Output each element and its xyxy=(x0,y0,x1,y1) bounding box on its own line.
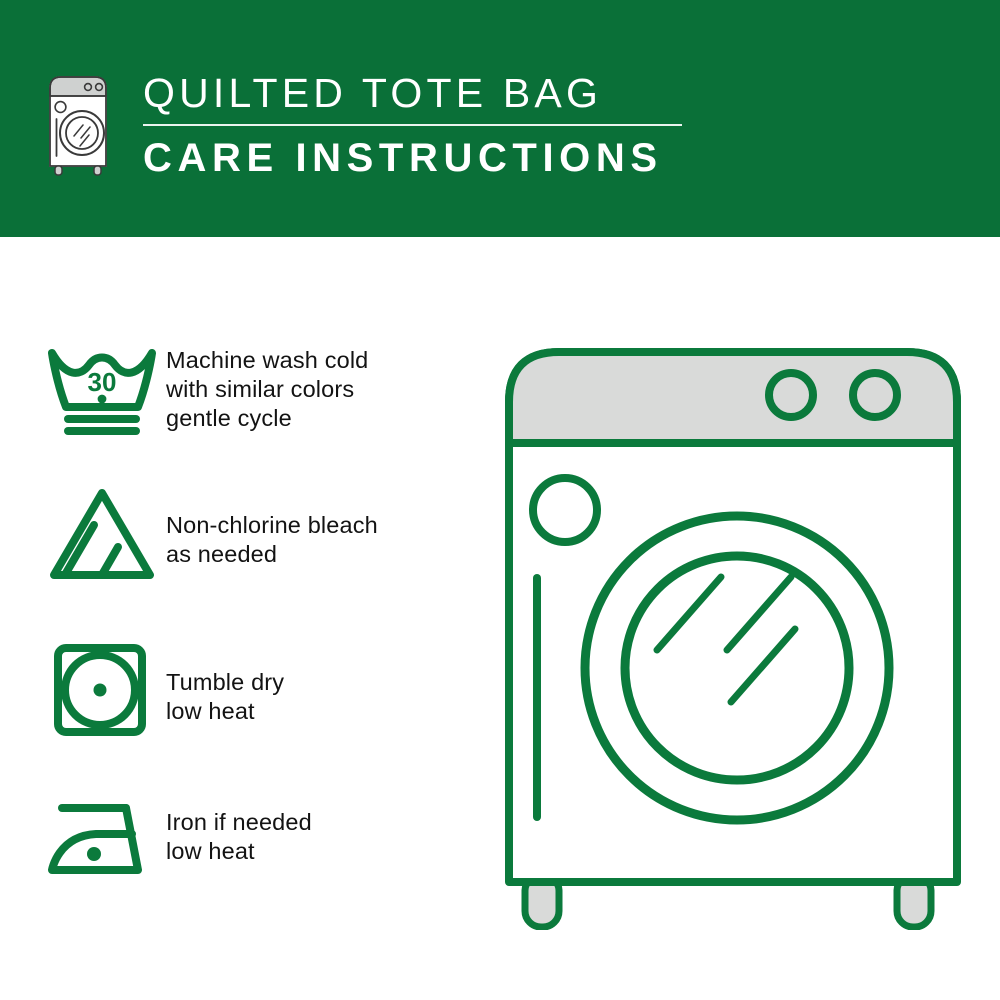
front-load-washing-machine-illustration xyxy=(489,330,977,930)
wash-temperature-label: 30 xyxy=(88,367,117,397)
washing-machine-icon xyxy=(46,72,110,176)
list-item-label: Machine wash cold with similar colors ge… xyxy=(166,343,368,433)
header-text-block: QUILTED TOTE BAG CARE INSTRUCTIONS xyxy=(143,68,763,182)
list-item: Non-chlorine bleach as needed xyxy=(46,485,466,581)
list-item: 30 Machine wash cold with similar colors… xyxy=(46,343,466,439)
non-chlorine-bleach-icon xyxy=(46,485,166,581)
list-item-label: Iron if needed low heat xyxy=(166,792,312,866)
label-line: gentle cycle xyxy=(166,404,368,433)
label-line: as needed xyxy=(166,540,378,569)
care-instruction-list: 30 Machine wash cold with similar colors… xyxy=(0,237,480,1000)
label-line: with similar colors xyxy=(166,375,368,404)
tumble-dry-low-heat-icon xyxy=(46,642,166,738)
care-instructions-infographic: QUILTED TOTE BAG CARE INSTRUCTIONS 30 xyxy=(0,0,1000,1000)
label-line: Machine wash cold xyxy=(166,346,368,375)
label-line: low heat xyxy=(166,697,284,726)
label-line: Non-chlorine bleach xyxy=(166,511,378,540)
iron-low-heat-icon xyxy=(46,792,166,888)
machine-wash-30-gentle-icon: 30 xyxy=(46,343,166,439)
section-title: CARE INSTRUCTIONS xyxy=(143,134,763,182)
label-line: Iron if needed xyxy=(166,808,312,837)
list-item-label: Tumble dry low heat xyxy=(166,642,284,726)
list-item-label: Non-chlorine bleach as needed xyxy=(166,485,378,569)
label-line: low heat xyxy=(166,837,312,866)
page-title: QUILTED TOTE BAG xyxy=(143,68,763,118)
list-item: Iron if needed low heat xyxy=(46,792,466,888)
label-line: Tumble dry xyxy=(166,668,284,697)
list-item: Tumble dry low heat xyxy=(46,642,466,738)
header-band: QUILTED TOTE BAG CARE INSTRUCTIONS xyxy=(0,0,1000,237)
title-divider xyxy=(143,124,682,126)
